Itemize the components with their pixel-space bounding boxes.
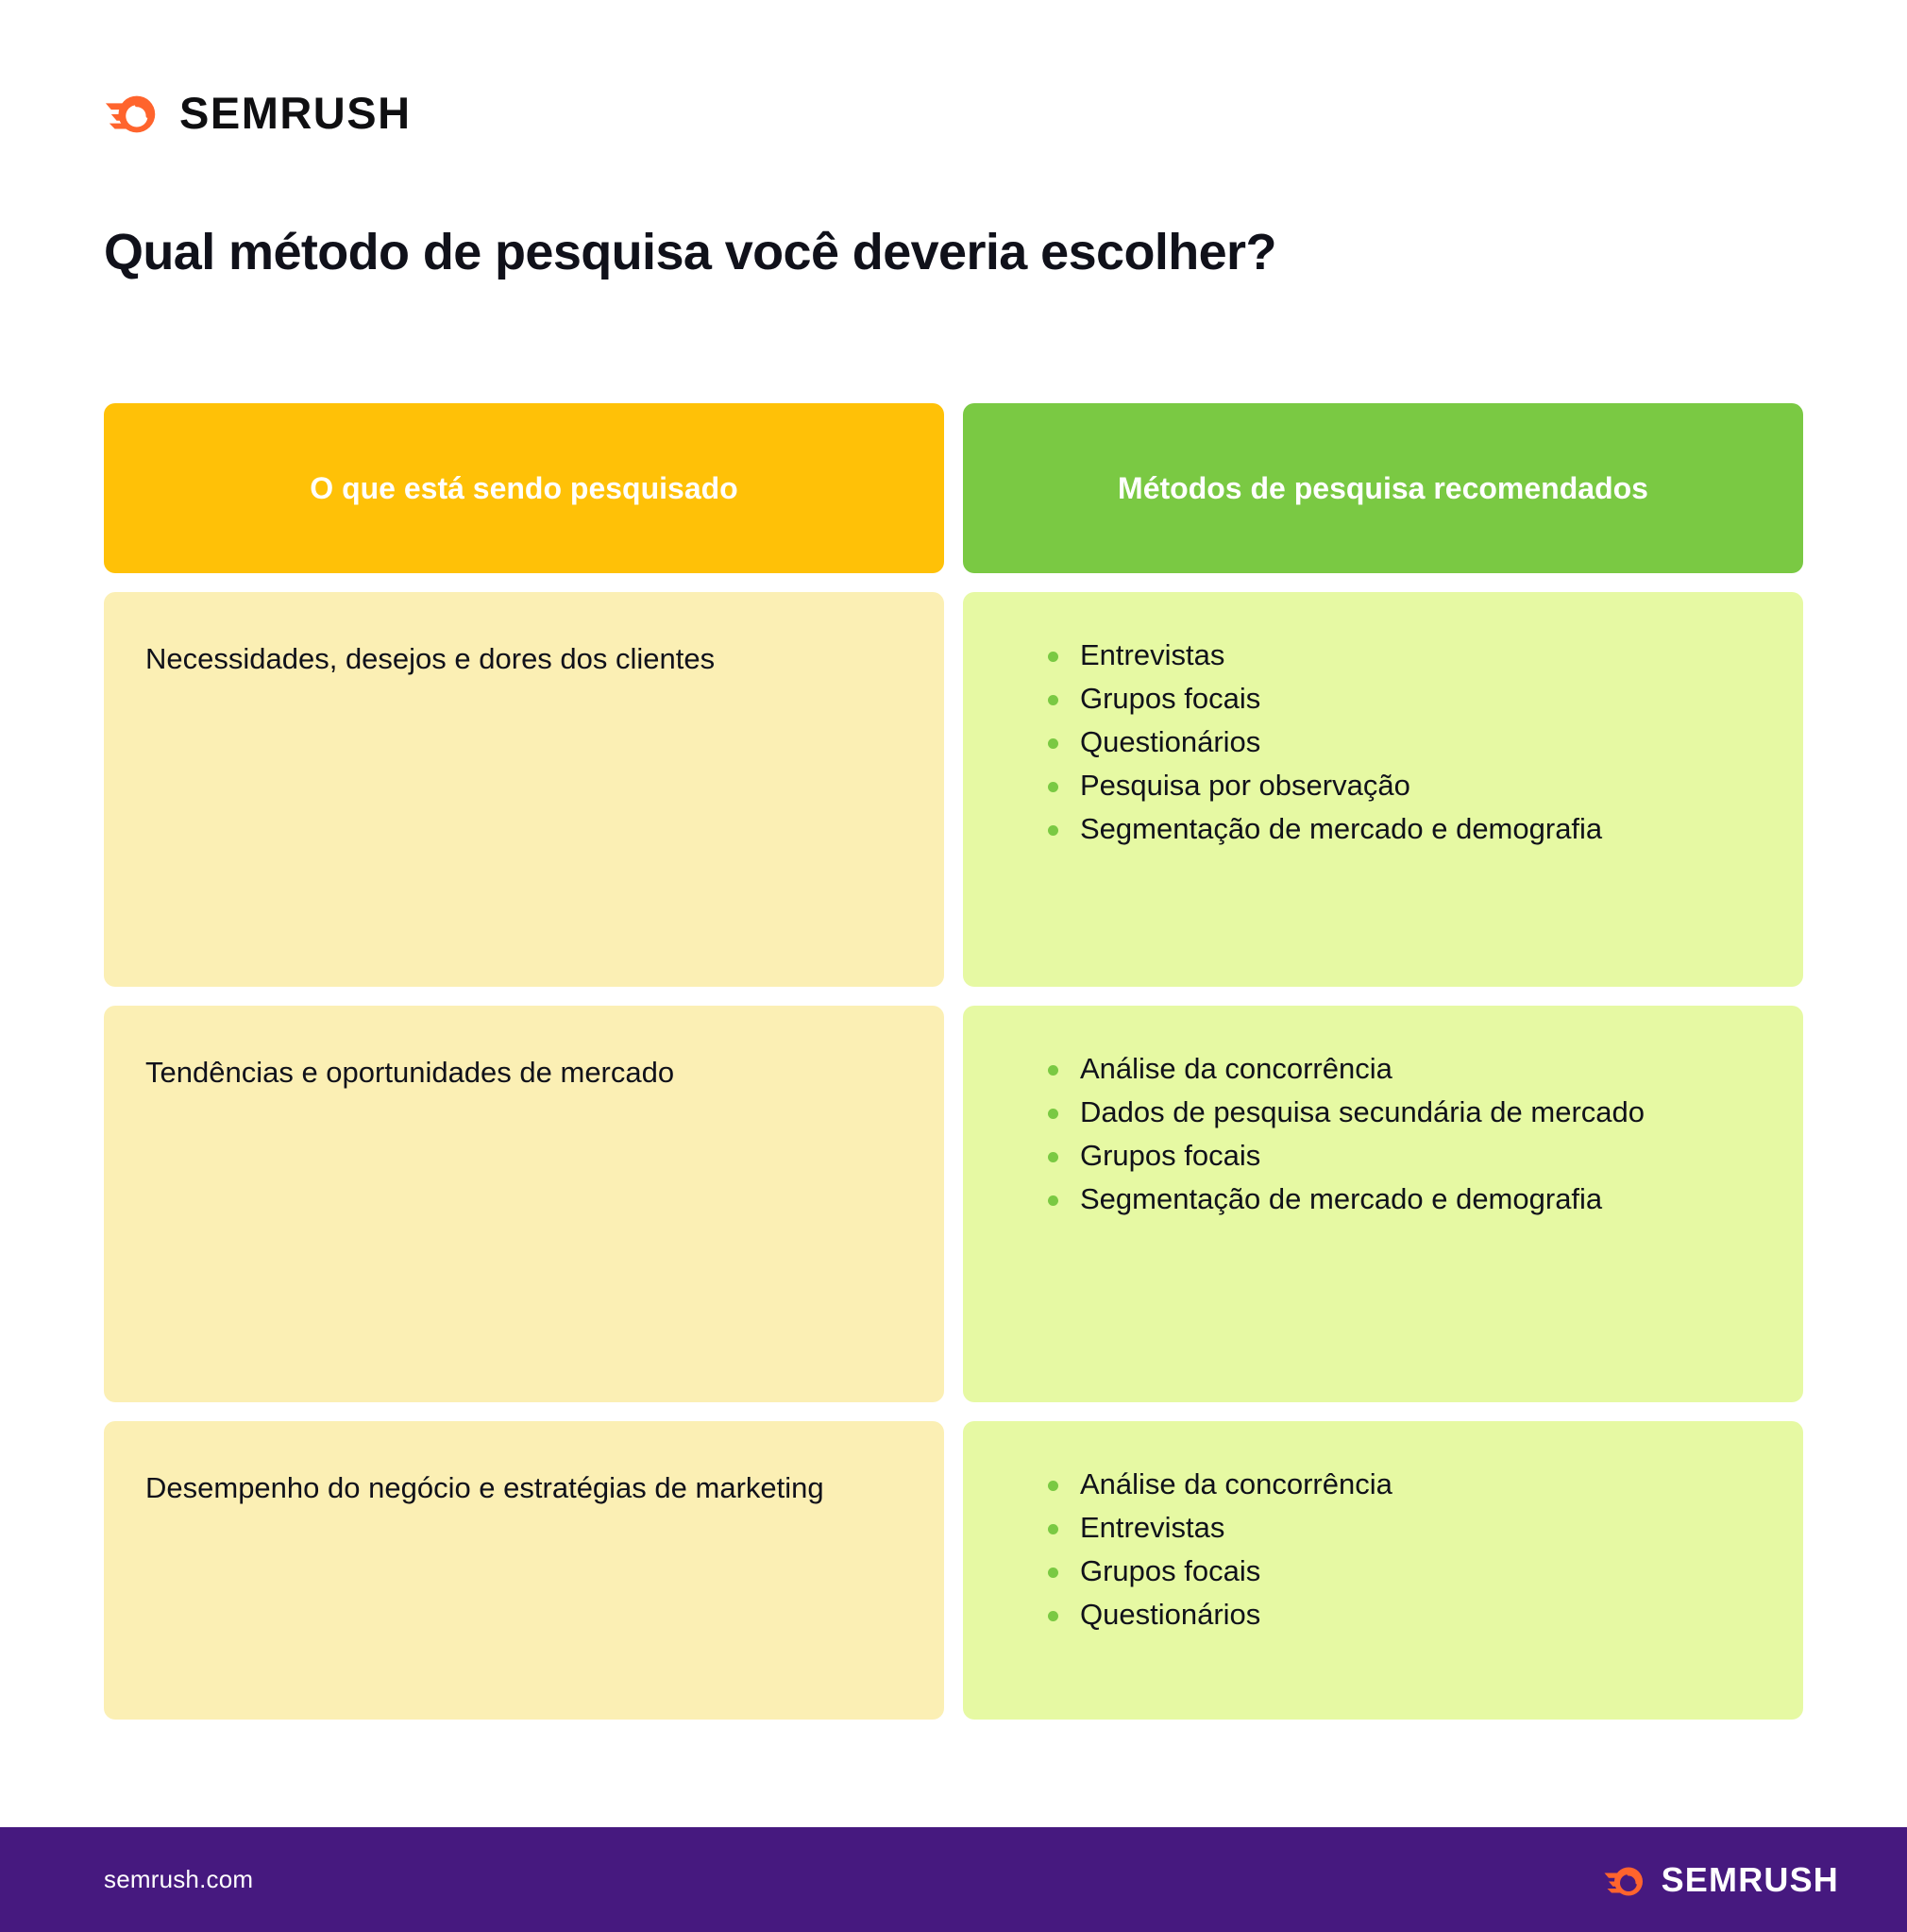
table-header-methods: Métodos de pesquisa recomendados — [963, 403, 1803, 573]
semrush-comet-logo-icon — [1603, 1857, 1648, 1903]
research-method-table: O que está sendo pesquisado Métodos de p… — [104, 403, 1803, 1720]
list-item: Análise da concorrência — [1004, 1463, 1762, 1506]
list-item: Questionários — [1004, 720, 1762, 764]
list-item: Pesquisa por observação — [1004, 764, 1762, 807]
list-item: Grupos focais — [1004, 1550, 1762, 1593]
semrush-comet-logo-icon — [104, 83, 162, 142]
infographic-page: SEMRUSH Qual método de pesquisa você dev… — [0, 0, 1907, 1932]
table-header-row: O que está sendo pesquisado Métodos de p… — [104, 403, 1803, 573]
subject-cell: Desempenho do negócio e estratégias de m… — [104, 1421, 944, 1720]
list-item: Segmentação de mercado e demografia — [1004, 807, 1762, 851]
semrush-logo-header: SEMRUSH — [104, 83, 412, 142]
table-header-subject: O que está sendo pesquisado — [104, 403, 944, 573]
table-row: Necessidades, desejos e dores dos client… — [104, 592, 1803, 987]
list-item: Questionários — [1004, 1593, 1762, 1636]
methods-list: Análise da concorrência Dados de pesquis… — [1004, 1047, 1762, 1221]
list-item: Dados de pesquisa secundária de mercado — [1004, 1091, 1762, 1134]
list-item: Segmentação de mercado e demografia — [1004, 1178, 1762, 1221]
methods-cell: Entrevistas Grupos focais Questionários … — [963, 592, 1803, 987]
page-title: Qual método de pesquisa você deveria esc… — [104, 222, 1822, 283]
table-row: Tendências e oportunidades de mercado An… — [104, 1006, 1803, 1402]
list-item: Entrevistas — [1004, 1506, 1762, 1550]
methods-list: Análise da concorrência Entrevistas Grup… — [1004, 1463, 1762, 1636]
methods-list: Entrevistas Grupos focais Questionários … — [1004, 634, 1762, 850]
table-row: Desempenho do negócio e estratégias de m… — [104, 1421, 1803, 1720]
methods-cell: Análise da concorrência Dados de pesquis… — [963, 1006, 1803, 1402]
list-item: Grupos focais — [1004, 1134, 1762, 1178]
footer-url[interactable]: semrush.com — [104, 1865, 253, 1894]
list-item: Grupos focais — [1004, 677, 1762, 720]
methods-cell: Análise da concorrência Entrevistas Grup… — [963, 1421, 1803, 1720]
semrush-logo-footer: SEMRUSH — [1603, 1857, 1839, 1903]
footer-bar: semrush.com SEMRUSH — [0, 1827, 1907, 1932]
list-item: Análise da concorrência — [1004, 1047, 1762, 1091]
subject-cell: Necessidades, desejos e dores dos client… — [104, 592, 944, 987]
list-item: Entrevistas — [1004, 634, 1762, 677]
semrush-wordmark: SEMRUSH — [179, 91, 412, 135]
subject-cell: Tendências e oportunidades de mercado — [104, 1006, 944, 1402]
semrush-wordmark: SEMRUSH — [1662, 1863, 1839, 1897]
